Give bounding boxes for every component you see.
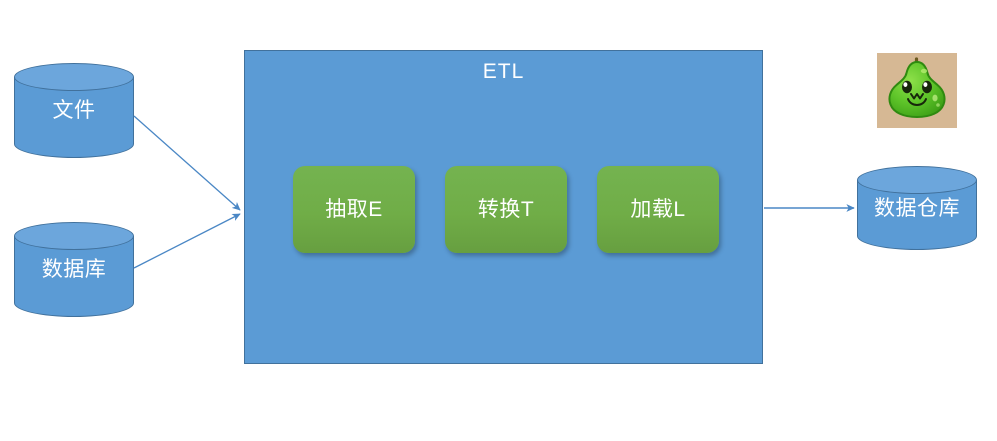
target-label-data-warehouse: 数据仓库 bbox=[857, 166, 977, 250]
etl-stage-label-extract: 抽取E bbox=[325, 199, 383, 220]
etl-stage-transform[interactable]: 转换T bbox=[445, 166, 567, 253]
source-label-file: 文件 bbox=[14, 63, 134, 158]
source-label-database: 数据库 bbox=[14, 222, 134, 317]
target-cylinder-data-warehouse[interactable]: 数据仓库 bbox=[857, 166, 977, 250]
source-cylinder-database[interactable]: 数据库 bbox=[14, 222, 134, 317]
diagram-canvas: 文件 数据库 ETL 抽取E 转换T 加载L 数据仓库 bbox=[0, 0, 997, 441]
source-cylinder-file[interactable]: 文件 bbox=[14, 63, 134, 158]
etl-title: ETL bbox=[245, 61, 762, 82]
etl-stage-extract[interactable]: 抽取E bbox=[293, 166, 415, 253]
etl-container[interactable]: ETL 抽取E 转换T 加载L bbox=[244, 50, 763, 364]
pear-mascot-image bbox=[877, 53, 957, 128]
etl-stage-load[interactable]: 加载L bbox=[597, 166, 719, 253]
etl-stage-label-transform: 转换T bbox=[478, 199, 534, 220]
etl-stage-label-load: 加载L bbox=[630, 199, 685, 220]
arrow-file-to-etl bbox=[134, 116, 240, 210]
pear-mascot-icon bbox=[877, 53, 957, 128]
arrow-database-to-etl bbox=[134, 214, 240, 268]
